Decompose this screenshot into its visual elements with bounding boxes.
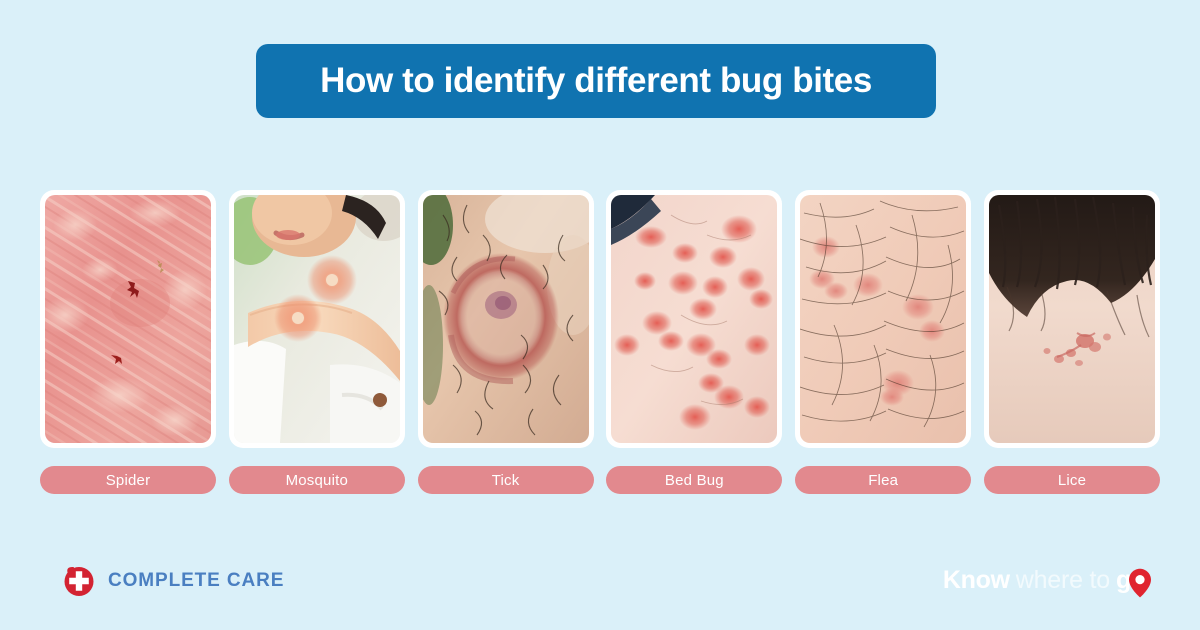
bug-bite-card-tick[interactable]: Tick [418, 190, 594, 494]
bug-bite-card-spider[interactable]: Spider [40, 190, 216, 494]
page-title: How to identify different bug bites [320, 61, 872, 101]
tick-bite-photo [423, 195, 589, 443]
bug-bite-label-bed-bug: Bed Bug [606, 466, 782, 494]
bug-bite-label-tick: Tick [418, 466, 594, 494]
tagline-where-to: where to [1016, 566, 1110, 595]
spider-bite-photo [45, 195, 211, 443]
bug-bite-card-lice[interactable]: Lice [984, 190, 1160, 494]
bug-bite-label-flea: Flea [795, 466, 971, 494]
label-text: Lice [1058, 472, 1086, 489]
bug-bite-label-mosquito: Mosquito [229, 466, 405, 494]
brand-logo[interactable]: COMPLETE CARE [62, 564, 284, 598]
photo-frame [418, 190, 594, 448]
brand-name: COMPLETE CARE [108, 570, 284, 592]
bug-bite-card-bed-bug[interactable]: Bed Bug [606, 190, 782, 494]
map-pin-icon [1128, 568, 1152, 598]
label-text: Mosquito [286, 472, 348, 489]
bug-bite-card-mosquito[interactable]: Mosquito [229, 190, 405, 494]
label-text: Spider [106, 472, 151, 489]
bug-bite-label-spider: Spider [40, 466, 216, 494]
bug-bite-gallery: Spider [40, 190, 1160, 494]
mosquito-bite-photo [234, 195, 400, 443]
lice-bite-photo [989, 195, 1155, 443]
photo-frame [40, 190, 216, 448]
photo-frame [984, 190, 1160, 448]
tagline: Know where to g [943, 566, 1152, 596]
photo-frame [229, 190, 405, 448]
photo-frame [606, 190, 782, 448]
bed-bug-bite-photo [611, 195, 777, 443]
title-banner: How to identify different bug bites [256, 44, 936, 118]
flea-bite-photo [800, 195, 966, 443]
photo-frame [795, 190, 971, 448]
bug-bite-card-flea[interactable]: Flea [795, 190, 971, 494]
bug-bite-label-lice: Lice [984, 466, 1160, 494]
label-text: Flea [868, 472, 898, 489]
medical-cross-icon [62, 564, 96, 598]
tagline-know: Know [943, 566, 1010, 595]
label-text: Bed Bug [665, 472, 724, 489]
label-text: Tick [492, 472, 520, 489]
